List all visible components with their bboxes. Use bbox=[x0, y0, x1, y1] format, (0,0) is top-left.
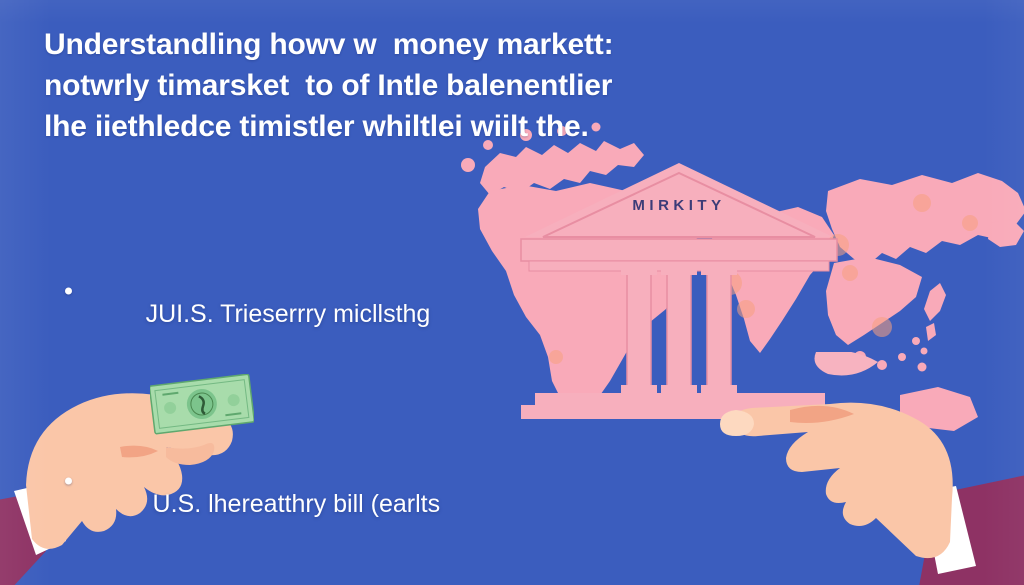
bullet-dot-icon bbox=[65, 288, 72, 295]
bullet-list: JUI.S. Trieserrry micllsthg U.S. lhereat… bbox=[58, 196, 578, 585]
right-hand-graphic bbox=[690, 352, 1024, 585]
title-line-1: Understandling howv w money markett: bbox=[44, 24, 744, 65]
presentation-slide: MIRKITY bbox=[0, 0, 1024, 585]
list-item: JUI.S. Trieserrry micllsthg bbox=[58, 196, 578, 386]
title-line-3: lhe iiethledce timistler whiltlei wiilt … bbox=[44, 106, 744, 147]
list-item: Cel rrendants case (thest ises) bbox=[58, 576, 578, 585]
list-item: U.S. lhereatthry bill (earlts bbox=[58, 386, 578, 576]
title-line-2: notwrly timarsket to of Intle balenentli… bbox=[44, 65, 744, 106]
list-item-label: JUI.S. Trieserrry micllsthg bbox=[146, 300, 431, 328]
slide-title: Understandling howv w money markett: not… bbox=[44, 24, 744, 147]
bullet-dot-icon bbox=[65, 478, 72, 485]
list-item-label: U.S. lhereatthry bill (earlts bbox=[146, 490, 441, 518]
